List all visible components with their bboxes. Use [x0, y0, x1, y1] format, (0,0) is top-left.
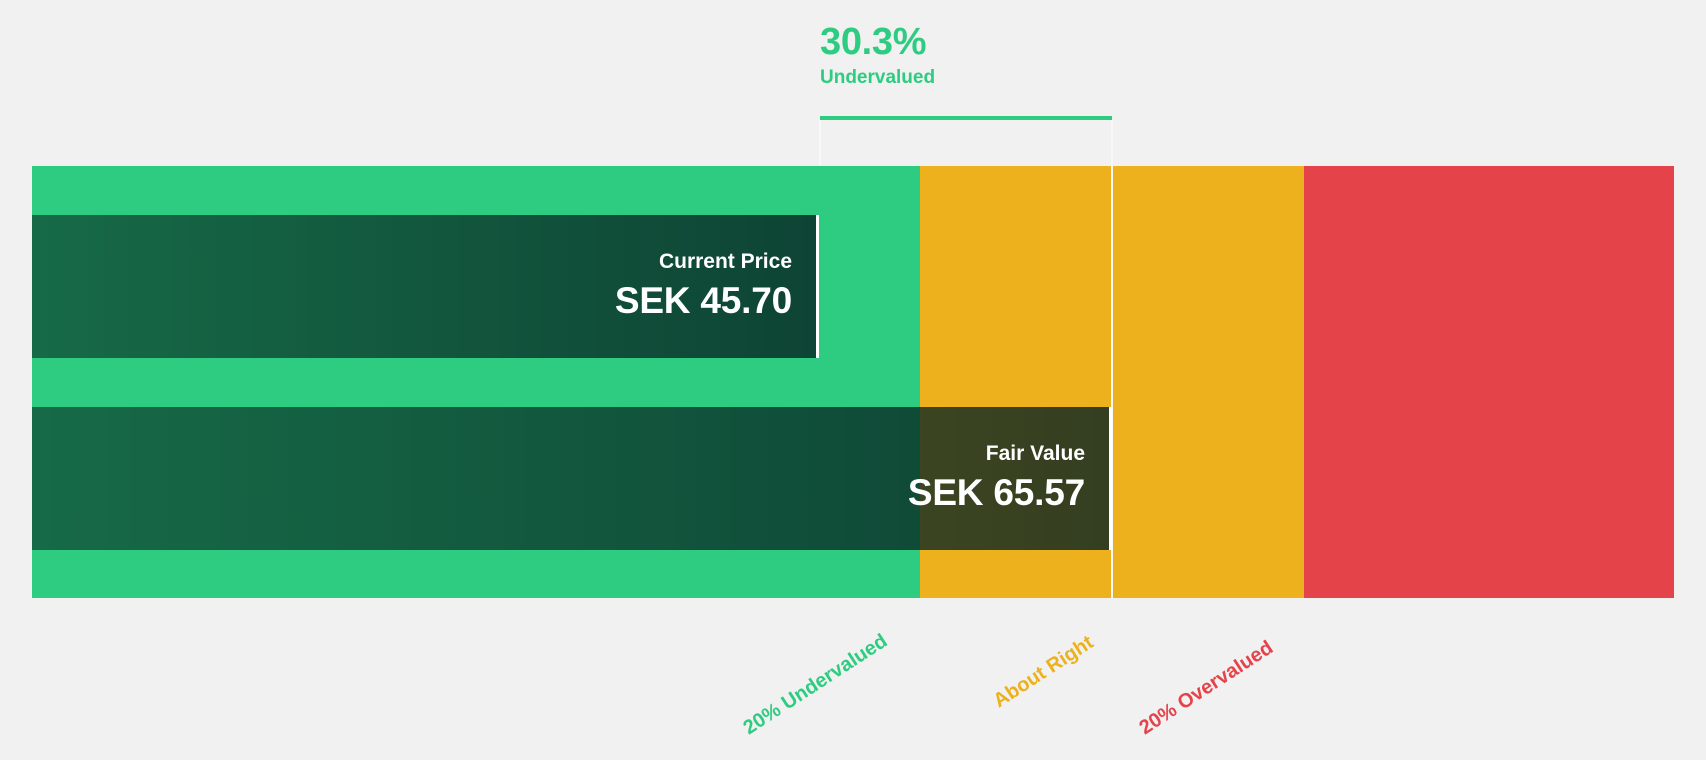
band-overvalued	[1304, 166, 1674, 598]
axis-tick-overvalued: 20% Overvalued	[1135, 637, 1277, 740]
current-price-value: SEK 45.70	[615, 278, 792, 324]
current-price-label: Current Price	[659, 249, 792, 275]
axis-tick-undervalued: 20% Undervalued	[739, 630, 891, 740]
fair-value-value: SEK 65.57	[908, 470, 1085, 516]
fair-value-chart: 30.3% Undervalued Current Price SEK 45.7…	[0, 0, 1706, 760]
discount-percent: 30.3%	[820, 22, 1120, 63]
callout-underline	[820, 116, 1112, 120]
current-price-bar[interactable]: Current Price SEK 45.70	[32, 215, 819, 358]
valuation-verdict: Undervalued	[820, 67, 1120, 90]
fair-value-label: Fair Value	[986, 441, 1085, 467]
band-about-right-high	[1113, 166, 1304, 598]
valuation-callout: 30.3% Undervalued	[820, 22, 1120, 90]
axis-tick-about-right: About Right	[989, 631, 1097, 713]
fair-value-bar[interactable]: Fair Value SEK 65.57	[32, 407, 1112, 550]
